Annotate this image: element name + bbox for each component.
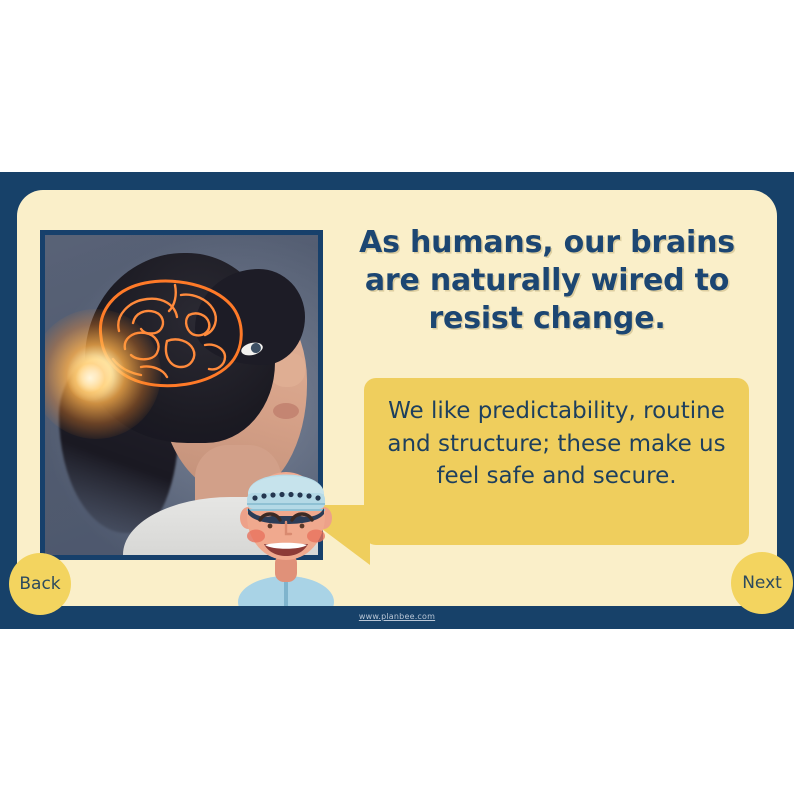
next-button[interactable]: Next (731, 552, 793, 614)
girl-lips (273, 403, 299, 419)
slide-stage: As humans, our brains are naturally wire… (0, 172, 794, 629)
speech-bubble: We like predictability, routine and stru… (364, 378, 749, 545)
light-flare-secondary (67, 355, 113, 401)
character-avatar (230, 454, 342, 606)
back-button[interactable]: Back (9, 553, 71, 615)
slide-title: As humans, our brains are naturally wire… (343, 224, 751, 338)
watermark-link[interactable]: www.planbee.com (0, 612, 794, 621)
speech-bubble-text: We like predictability, routine and stru… (378, 395, 735, 493)
